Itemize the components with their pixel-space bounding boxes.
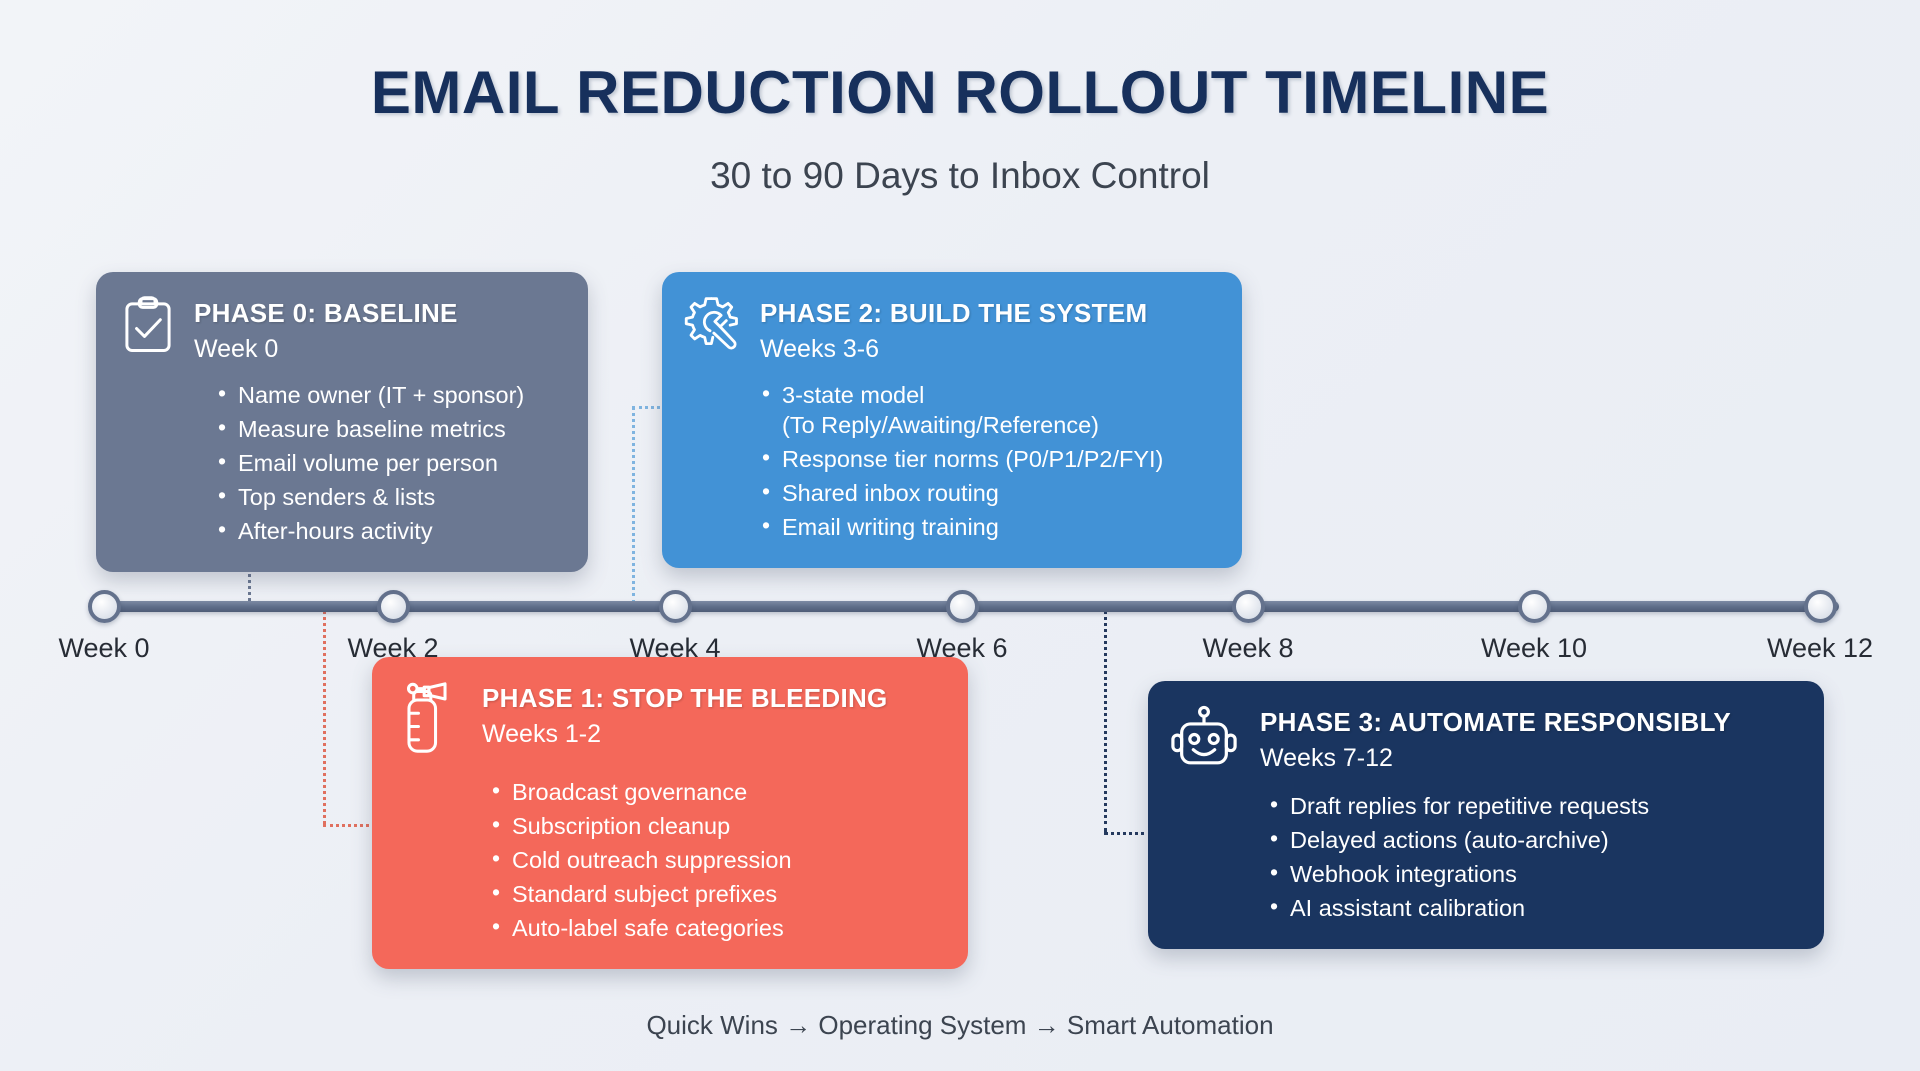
page-title: EMAIL REDUCTION ROLLOUT TIMELINE [0, 58, 1920, 127]
card-weeks: Week 0 [194, 335, 458, 364]
footer-summary: Quick Wins → Operating System → Smart Au… [0, 1010, 1920, 1041]
card-titles: PHASE 3: AUTOMATE RESPONSIBLY Weeks 7-12 [1260, 701, 1731, 773]
clipboard-check-icon [118, 292, 178, 354]
timeline-node-2[interactable] [659, 590, 692, 623]
phase-card-phase-2[interactable]: PHASE 2: BUILD THE SYSTEM Weeks 3-6 3-st… [662, 272, 1242, 568]
card-bullet-list: 3-state model (To Reply/Awaiting/Referen… [684, 380, 1216, 542]
timeline-node-5[interactable] [1518, 590, 1551, 623]
timeline-tick-label: Week 8 [1202, 633, 1293, 664]
card-bullet-list: Draft replies for repetitive requestsDel… [1170, 791, 1798, 923]
bullet-item: Broadcast governance [492, 777, 942, 807]
card-title: PHASE 2: BUILD THE SYSTEM [760, 298, 1147, 329]
page-subtitle: 30 to 90 Days to Inbox Control [0, 155, 1920, 197]
timeline-node-1[interactable] [377, 590, 410, 623]
card-bullet-list: Name owner (IT + sponsor)Measure baselin… [118, 380, 562, 546]
timeline-node-0[interactable] [88, 590, 121, 623]
bullet-item: Subscription cleanup [492, 811, 942, 841]
card-bullet-list: Broadcast governanceSubscription cleanup… [394, 777, 942, 943]
card-title: PHASE 3: AUTOMATE RESPONSIBLY [1260, 707, 1731, 738]
timeline-tick-label: Week 12 [1767, 633, 1873, 664]
bullet-item: Email volume per person [218, 448, 562, 478]
phase-card-phase-3[interactable]: PHASE 3: AUTOMATE RESPONSIBLY Weeks 7-12… [1148, 681, 1824, 949]
card-title: PHASE 1: STOP THE BLEEDING [482, 683, 888, 714]
phase-card-phase-1[interactable]: PHASE 1: STOP THE BLEEDING Weeks 1-2 Bro… [372, 657, 968, 969]
card-weeks: Weeks 1-2 [482, 720, 888, 749]
card-weeks: Weeks 7-12 [1260, 744, 1731, 773]
infographic-canvas: EMAIL REDUCTION ROLLOUT TIMELINE 30 to 9… [0, 0, 1920, 1071]
bullet-item: Delayed actions (auto-archive) [1270, 825, 1798, 855]
card-header: PHASE 1: STOP THE BLEEDING Weeks 1-2 [394, 677, 942, 755]
card-titles: PHASE 0: BASELINE Week 0 [194, 292, 458, 364]
connector-phase3-vertical [1104, 604, 1107, 832]
bullet-item: Auto-label safe categories [492, 913, 942, 943]
connector-phase2-horizontal [632, 406, 666, 409]
bullet-item: Measure baseline metrics [218, 414, 562, 444]
bullet-item: After-hours activity [218, 516, 562, 546]
card-titles: PHASE 2: BUILD THE SYSTEM Weeks 3-6 [760, 292, 1147, 364]
phase-card-phase-0[interactable]: PHASE 0: BASELINE Week 0 Name owner (IT … [96, 272, 588, 572]
timeline-node-3[interactable] [946, 590, 979, 623]
timeline-node-6[interactable] [1804, 590, 1837, 623]
bullet-item: AI assistant calibration [1270, 893, 1798, 923]
bullet-item: Cold outreach suppression [492, 845, 942, 875]
fire-extinguisher-icon [394, 677, 460, 755]
connector-phase2-vertical [632, 406, 635, 604]
connector-phase3-horizontal [1104, 832, 1152, 835]
robot-icon [1170, 701, 1238, 773]
bullet-item: Standard subject prefixes [492, 879, 942, 909]
timeline-tick-label: Week 10 [1481, 633, 1587, 664]
bullet-item: Email writing training [762, 512, 1216, 542]
card-title: PHASE 0: BASELINE [194, 298, 458, 329]
card-header: PHASE 2: BUILD THE SYSTEM Weeks 3-6 [684, 292, 1216, 364]
bullet-item: Draft replies for repetitive requests [1270, 791, 1798, 821]
connector-phase1-vertical [323, 604, 326, 824]
bullet-item: 3-state model (To Reply/Awaiting/Referen… [762, 380, 1216, 440]
connector-phase1-horizontal [323, 824, 375, 827]
bullet-item: Response tier norms (P0/P1/P2/FYI) [762, 444, 1216, 474]
gear-wrench-icon [684, 292, 744, 354]
bullet-item: Top senders & lists [218, 482, 562, 512]
card-header: PHASE 0: BASELINE Week 0 [118, 292, 562, 364]
timeline-tick-label: Week 0 [58, 633, 149, 664]
bullet-item: Shared inbox routing [762, 478, 1216, 508]
card-titles: PHASE 1: STOP THE BLEEDING Weeks 1-2 [482, 677, 888, 749]
timeline-node-4[interactable] [1232, 590, 1265, 623]
bullet-item: Webhook integrations [1270, 859, 1798, 889]
bullet-item: Name owner (IT + sponsor) [218, 380, 562, 410]
card-weeks: Weeks 3-6 [760, 335, 1147, 364]
card-header: PHASE 3: AUTOMATE RESPONSIBLY Weeks 7-12 [1170, 701, 1798, 773]
